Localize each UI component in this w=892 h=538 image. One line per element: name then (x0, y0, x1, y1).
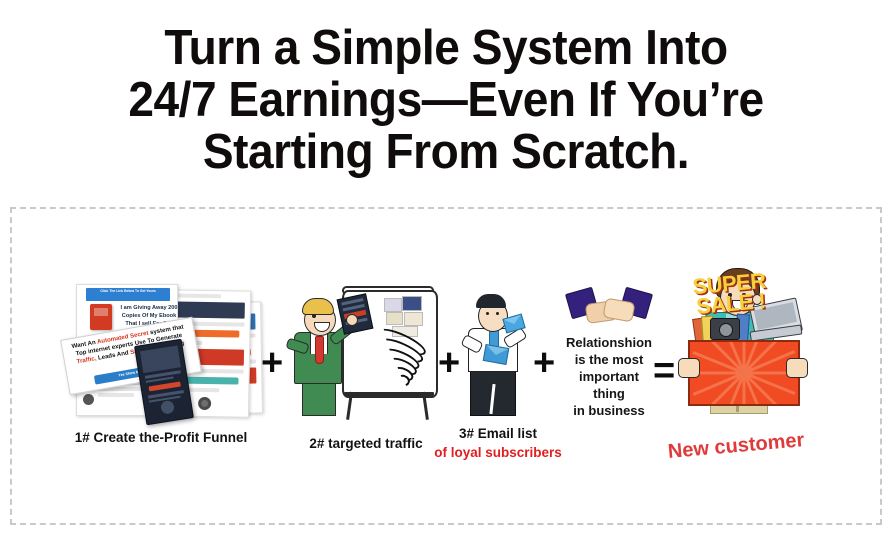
plus-1-icon: + (261, 344, 283, 382)
badge-seal-icon (198, 397, 211, 410)
relationship-line-3: important (556, 368, 662, 385)
stage-new-customer: SUPER SALE ! New customer (676, 266, 826, 436)
plus-2-icon: + (438, 344, 460, 382)
headline-line-1: Turn a Simple System Into (27, 22, 865, 74)
relationship-text: Relationshion is the most important thin… (556, 334, 662, 419)
presenter-legs (302, 380, 336, 416)
flipchart-tray (344, 392, 434, 396)
presenter-eye (312, 314, 316, 318)
stage-targeted-traffic: 2# targeted traffic (288, 288, 438, 428)
page-headline: Turn a Simple System Into 24/7 Earnings—… (27, 22, 865, 178)
handshake-icon (564, 288, 654, 330)
stage-email-list: 3# Email list of loyal subscribers (460, 288, 536, 428)
caption-email-list-sub: of loyal subscribers (398, 445, 598, 461)
headline-line-2: 24/7 Earnings—Even If You’re (27, 74, 865, 126)
super-sale-sign (688, 340, 800, 406)
presenter-tie (315, 336, 324, 364)
chart-thumbnail (402, 296, 422, 311)
relationship-line-2: is the most (556, 351, 662, 368)
chart-thumbnail (386, 312, 403, 325)
presenter-hand (346, 314, 358, 326)
email-man-eye (496, 312, 499, 315)
badge-seal-icon (160, 400, 175, 415)
relationship-line-1: Relationshion (556, 334, 662, 351)
customer-hand-right (786, 358, 808, 378)
ebook-cover-icon (90, 304, 112, 330)
caption-email-list: 3# Email list (398, 426, 598, 442)
headline-line-3: Starting From Scratch. (27, 126, 865, 178)
avatar (83, 394, 94, 405)
email-man-eye (486, 312, 489, 315)
chart-thumbnail (404, 312, 423, 326)
chart-thumbnail (384, 298, 402, 312)
presenter-hair (302, 298, 334, 315)
offer-banner-text: Click The Link Below To Get Yours (86, 289, 170, 293)
stage-profit-funnel: Click The Link Below To Get Yours I am G… (62, 280, 262, 430)
customer-hand-left (678, 358, 700, 378)
camera-icon (710, 318, 740, 340)
traffic-tornado-icon (372, 334, 428, 384)
plus-3-icon: + (533, 344, 555, 382)
email-man-hair (476, 294, 506, 308)
relationship-line-5: in business (556, 402, 662, 419)
stage-relationship: Relationshion is the most important thin… (556, 288, 662, 428)
relationship-line-4: thing (556, 385, 662, 402)
caption-profit-funnel: 1# Create the-Profit Funnel (16, 430, 306, 446)
